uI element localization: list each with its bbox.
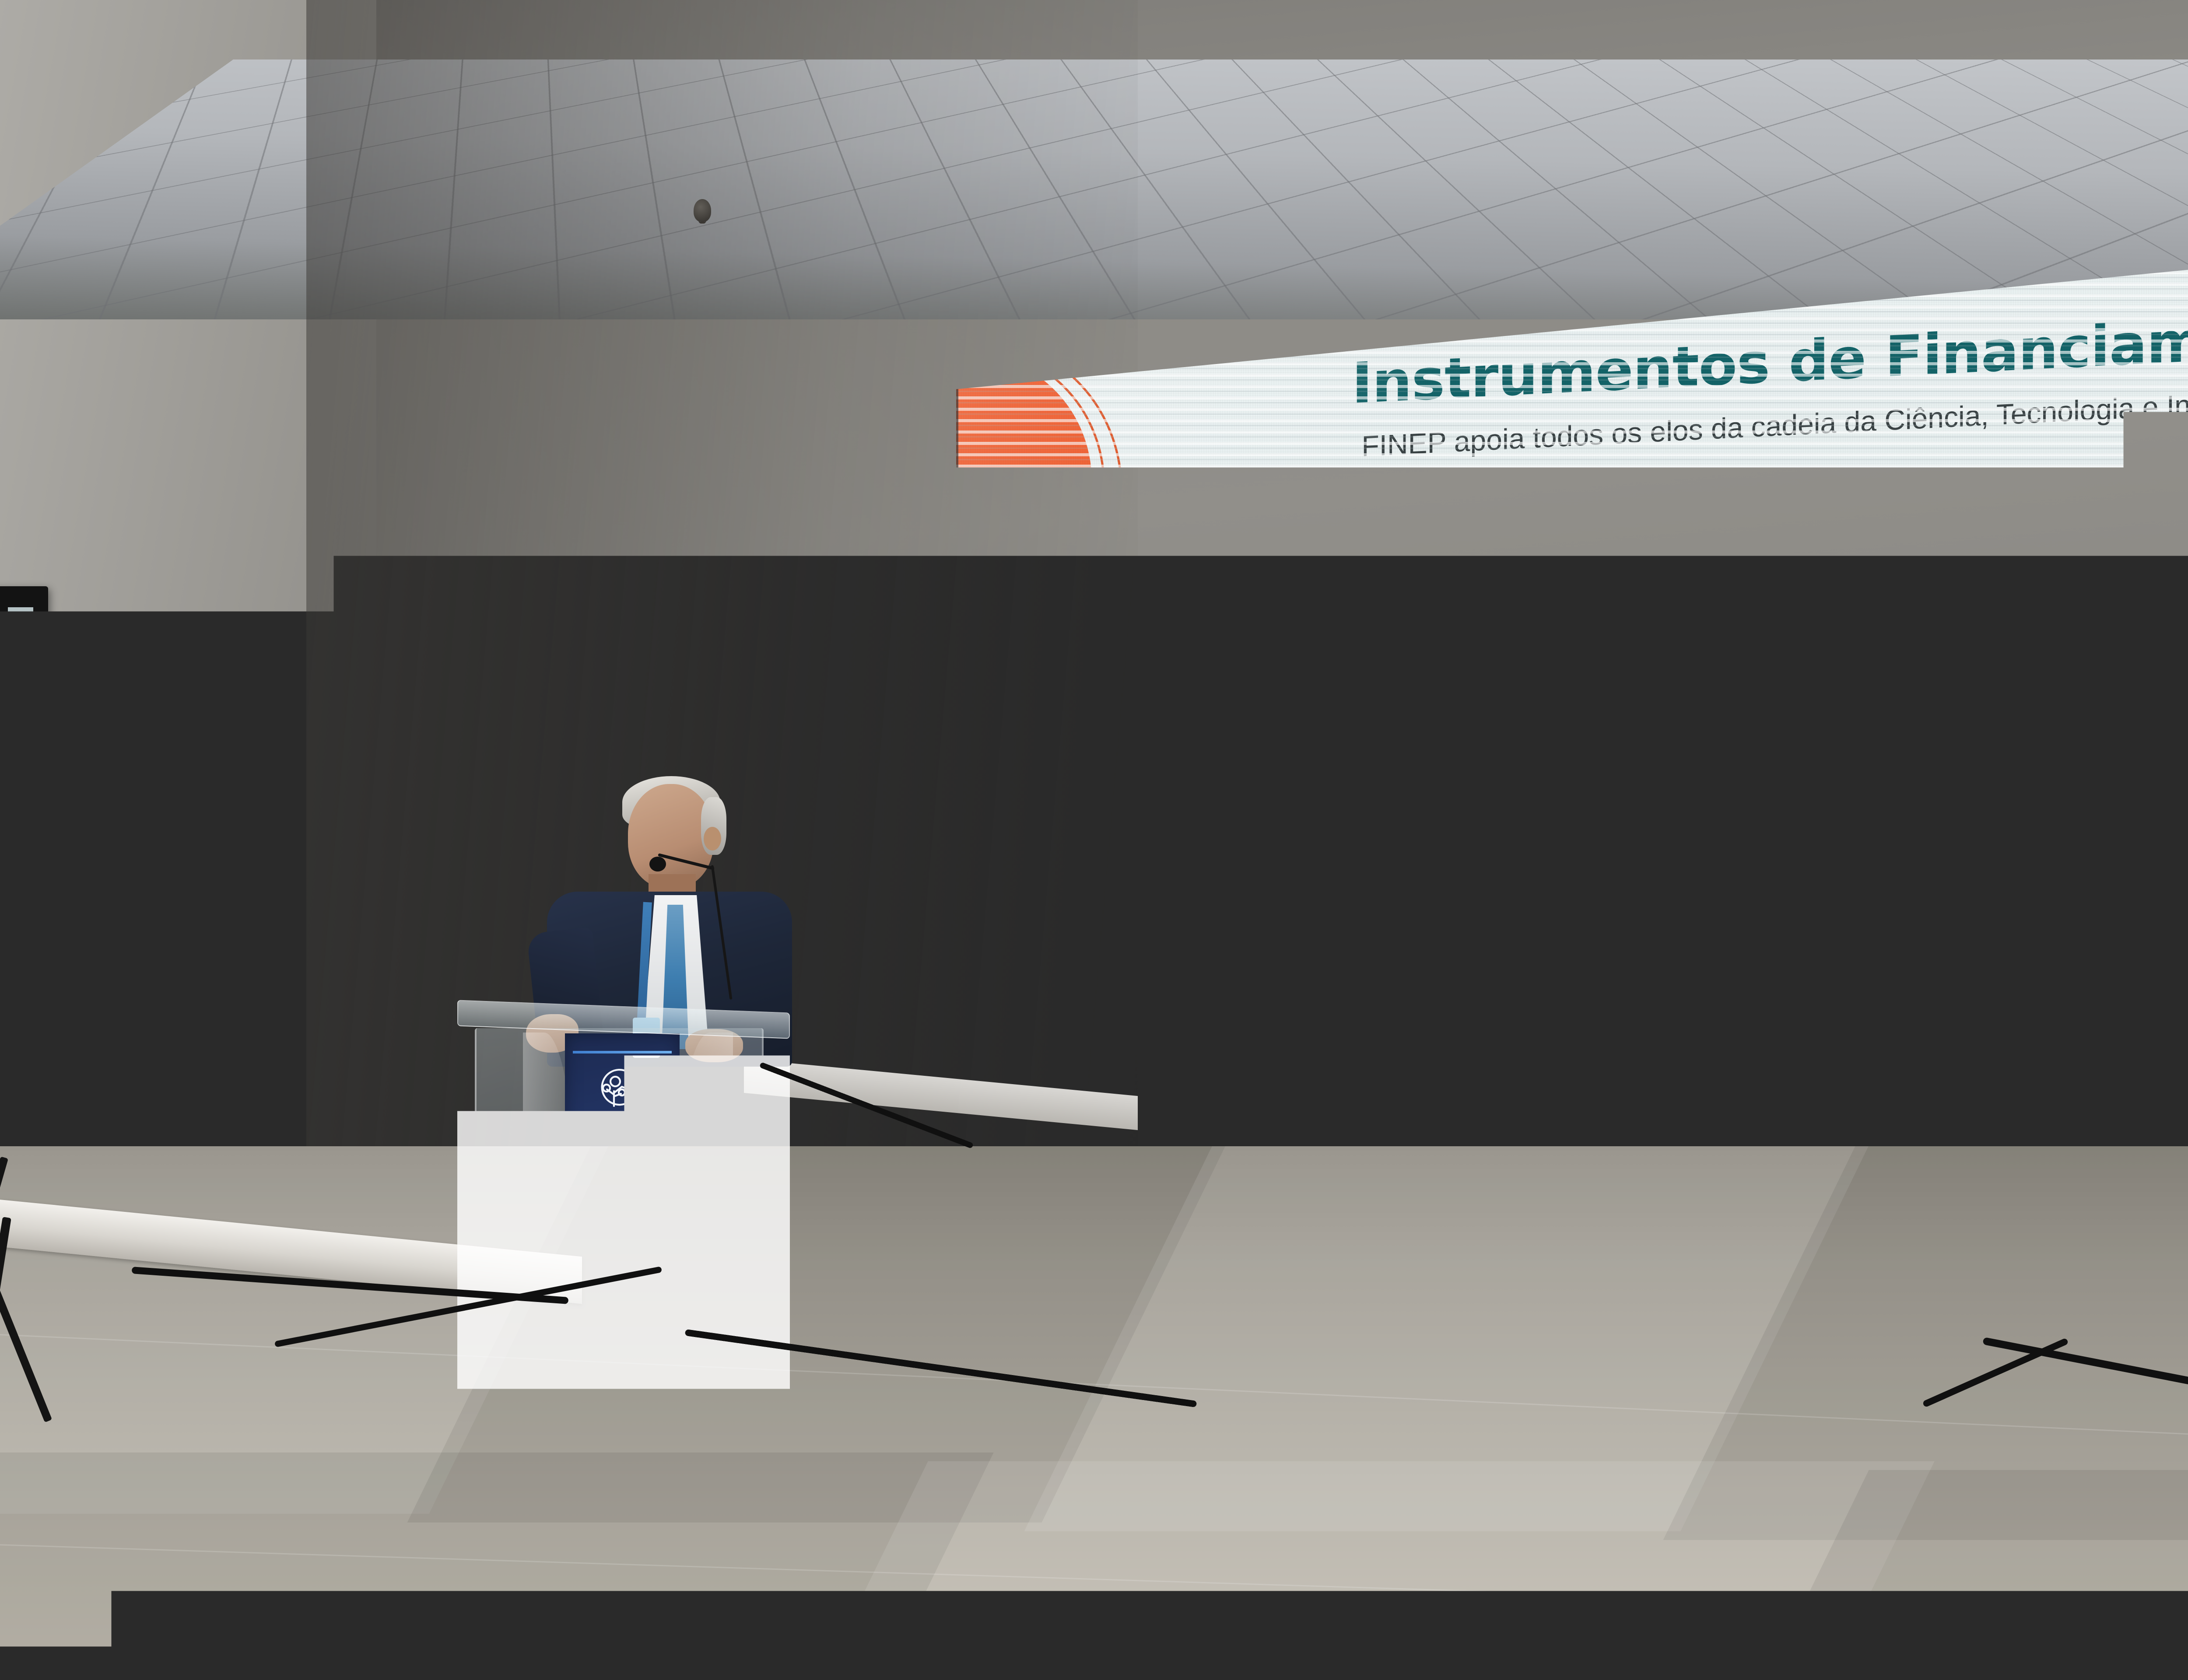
box3-emphasis: não xyxy=(1864,547,1902,572)
consecti-logo-icon xyxy=(594,1067,650,1109)
financing-instruments-row: Financiamento não reembolsável para Inst… xyxy=(1079,475,2188,745)
banner-date: 9 E 10 DE OUTUBRO DE 2025 xyxy=(567,1188,677,1214)
box1-line4: Ciência e Tecnologia xyxy=(1120,678,1317,711)
instrument-box-nao-reembolsavel-ict[interactable]: Financiamento não reembolsável para Inst… xyxy=(1079,560,1359,745)
arrow-head-left xyxy=(1031,916,1101,991)
podium-event-banner: REUNIÃO DO FÓRUM DO CONSECTI CONSELHO NA… xyxy=(565,1033,680,1379)
instrument-box-reembolsavel-empresas[interactable]: Financiamento reembolsável para Empresas xyxy=(1976,472,2188,674)
box2-line3: Fundos e empresas xyxy=(1421,637,1611,671)
banner-acronym: CONSECTI xyxy=(565,1124,680,1155)
box4-line3: para Empresas xyxy=(2041,585,2186,616)
box2-emphasis-direto: direto xyxy=(1538,610,1597,637)
box1-line1: Financiamento xyxy=(1148,595,1289,626)
box1-line3: para Instituições de xyxy=(1126,650,1312,683)
box3-line2: reembolsável para xyxy=(1721,575,1897,607)
floor xyxy=(0,1146,2188,1680)
wall-monitor-screen xyxy=(8,607,33,795)
finep-tetrahedron-icon xyxy=(1636,898,1711,978)
flow-arrow xyxy=(956,245,2188,318)
arrow-shaft-right xyxy=(1726,879,2188,939)
headset-mic-capsule xyxy=(649,857,666,871)
acrylic-podium: REUNIÃO DO FÓRUM DO CONSECTI CONSELHO NA… xyxy=(470,1006,772,1391)
box3-line1-prefix: Financiamento xyxy=(1717,549,1864,580)
box3-line3: empresas (subvenção xyxy=(1704,602,1915,636)
scene-root: Instrumentos de Financiamento FINEP apoi… xyxy=(0,0,2188,1680)
box1-line2-suffix: reembolsável xyxy=(1171,623,1304,653)
box2-emphasis-indireto: indireto xyxy=(1435,615,1514,642)
box3-line4: econômica) xyxy=(1754,632,1865,661)
banner-rule-top xyxy=(573,1051,672,1053)
box2-paren-close: ) xyxy=(1597,610,1604,634)
box2-paren-open: ( xyxy=(1428,619,1435,643)
box2-line1: Investimento xyxy=(1455,584,1577,613)
banner-rule-bottom xyxy=(573,1178,672,1180)
instrument-box-investimento[interactable]: Investimento (indireto e direto) Fundos … xyxy=(1385,532,1648,721)
box4-line2: reembolsável xyxy=(2050,557,2177,588)
banner-expansion: CONSELHO NACIONAL DE SECRETÁRIOS ESTADUA… xyxy=(568,1152,676,1180)
speaker-ear xyxy=(704,827,721,850)
box2-conn: e xyxy=(1514,613,1538,638)
finep-logo-badge: Finep INOVAÇÃO E PESQUISA xyxy=(1512,875,1726,1003)
box4-line1: Financiamento xyxy=(2043,529,2184,560)
wall-monitor xyxy=(0,586,48,814)
box1-emphasis: não xyxy=(1133,629,1171,654)
instrument-box-nao-reembolsavel-empresas[interactable]: Financiamento não reembolsável para empr… xyxy=(1672,504,1947,706)
arrow-shaft-left xyxy=(1097,916,1517,970)
